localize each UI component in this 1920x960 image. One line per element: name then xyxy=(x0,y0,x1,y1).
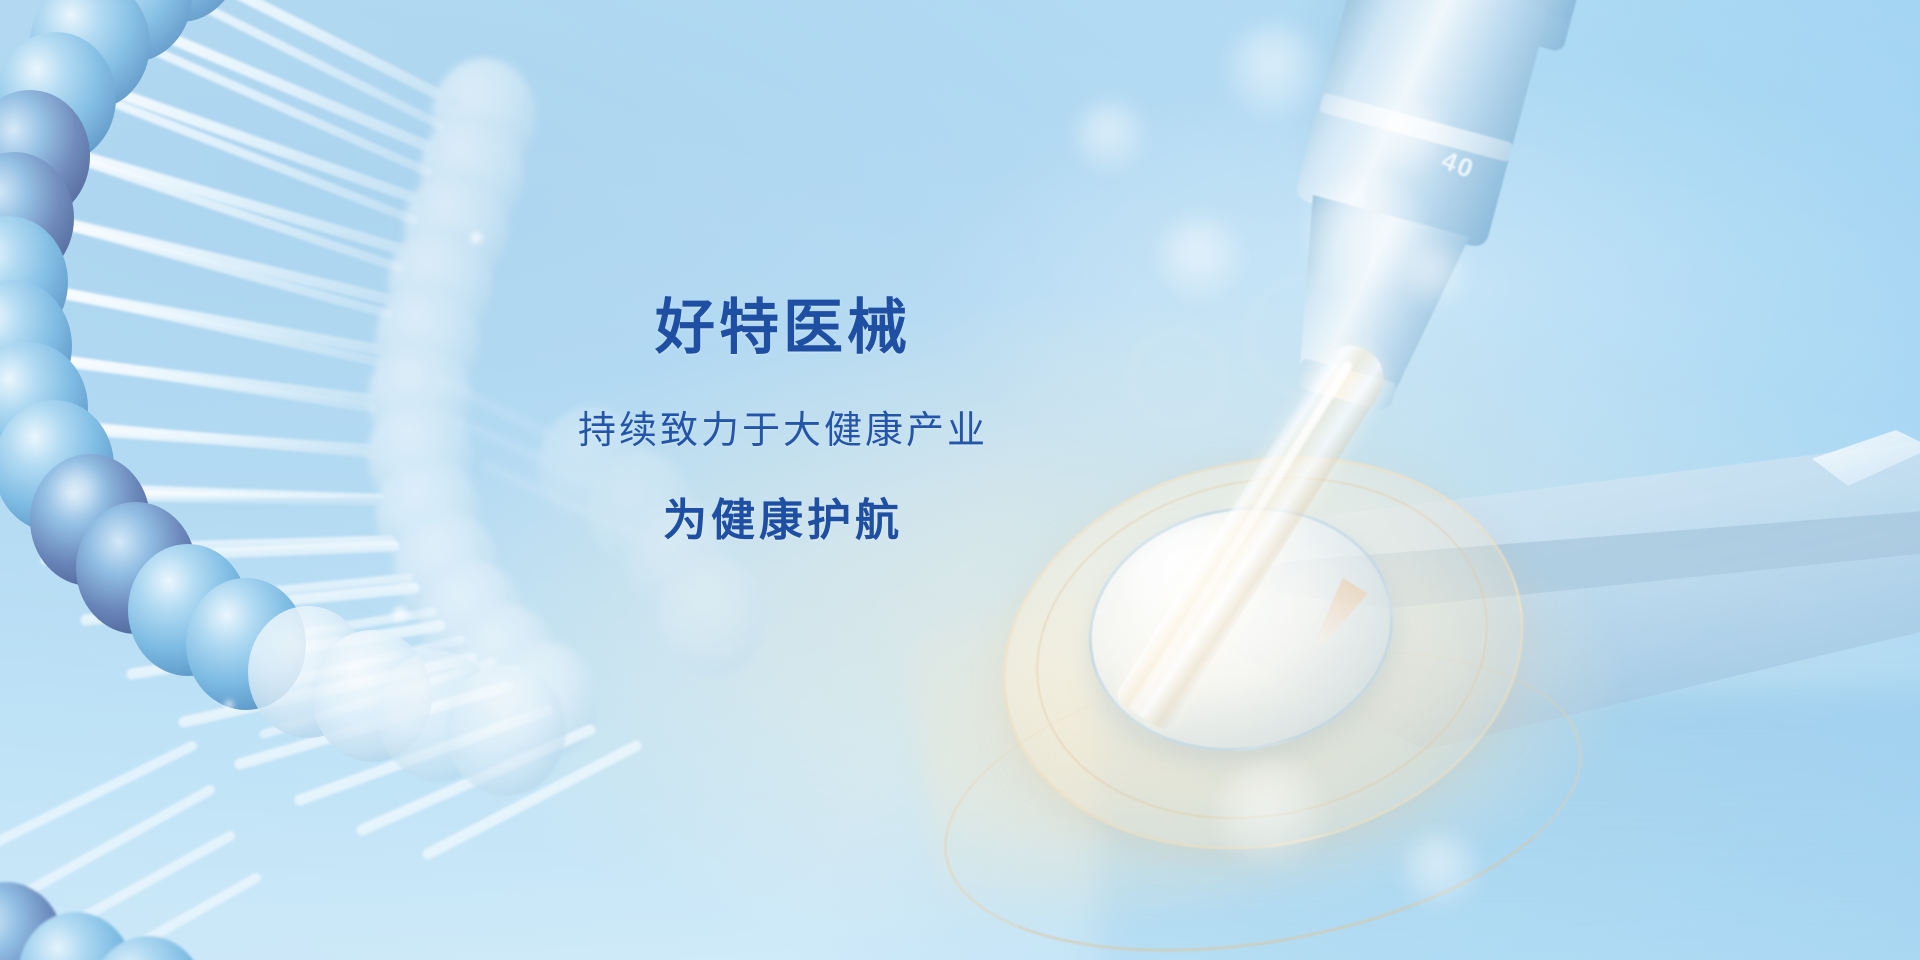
hero-text-block: 好特医械 持续致力于大健康产业 为健康护航 xyxy=(0,296,1566,545)
page-title: 好特医械 xyxy=(0,296,1566,359)
bokeh-blob xyxy=(1074,100,1148,174)
brand-subtitle: 持续致力于大健康产业 xyxy=(0,411,1566,453)
brand-tagline: 为健康护航 xyxy=(0,497,1566,545)
hero-banner: 40 xyxy=(0,0,1920,960)
